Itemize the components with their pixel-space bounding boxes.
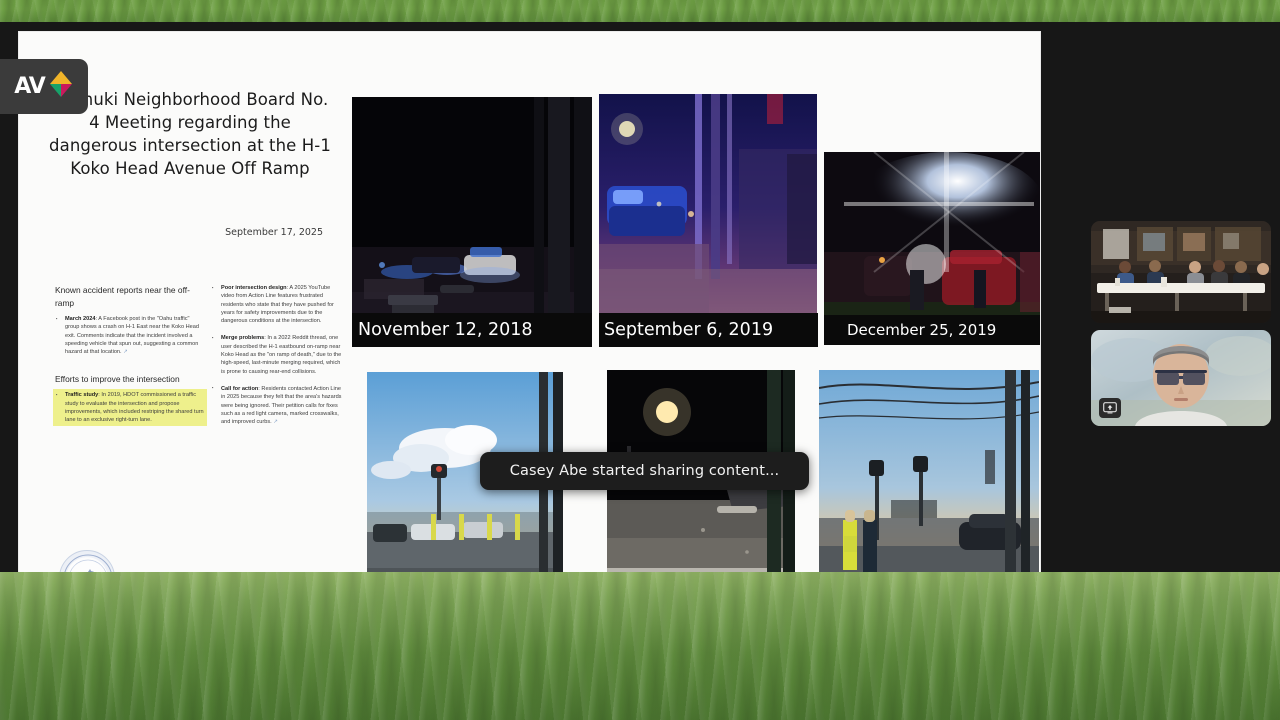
video-canvas: Kaimuki Neighborhood Board No. 4 Meeting… (0, 22, 1280, 574)
av-watermark-badge: AV (0, 59, 88, 114)
external-link-icon[interactable]: ↗ (272, 419, 278, 425)
screen-share-icon[interactable] (1099, 398, 1121, 418)
right-bullet-merge-problems: Merge problems: In a 2022 Reddit thread,… (211, 334, 343, 375)
left-heading-2: Efforts to improve the intersection (55, 373, 205, 386)
av-logo-icon (48, 70, 74, 103)
participant-thumbnail-presenter[interactable] (1091, 330, 1271, 426)
shared-slide: Kaimuki Neighborhood Board No. 4 Meeting… (19, 32, 1040, 596)
left-bullet-march-2024: March 2024: A Facebook post in the "Oahu… (55, 315, 205, 356)
left-bullet-traffic-study: Traffic study: In 2019, HDOT commissione… (55, 391, 205, 424)
slide-date: September 17, 2025 (45, 227, 335, 238)
slide-title: Kaimuki Neighborhood Board No. 4 Meeting… (45, 88, 335, 180)
photo-caption-1: September 6, 2019 (599, 313, 818, 347)
sharing-toast-text: Casey Abe started sharing content... (510, 463, 779, 479)
left-heading-1: Known accident reports near the off-ramp (55, 284, 205, 309)
photo-november-12-2018 (352, 97, 592, 345)
right-bullet-poor-design: Poor intersection design: A 2025 YouTube… (211, 284, 343, 325)
slide-right-column: Poor intersection design: A 2025 YouTube… (211, 284, 343, 435)
participant-thumbnail-board-room[interactable] (1091, 221, 1271, 323)
right-bullet2-lead: Call for action (221, 386, 258, 392)
left-bullet-lead: March 2024 (65, 316, 95, 322)
sharing-toast-notification: Casey Abe started sharing content... (480, 452, 809, 490)
photo-september-8-2025 (819, 370, 1039, 596)
photo-september-6-2019 (599, 94, 817, 345)
slide-left-column: Known accident reports near the off-ramp… (55, 284, 205, 433)
right-bullet-call-for-action: Call for action: Residents contacted Act… (211, 385, 343, 426)
left-bullet2-lead: Traffic study (65, 392, 98, 398)
photo-caption-2: December 25, 2019 (824, 315, 1040, 345)
av-watermark-label: AV (14, 74, 45, 99)
photo-caption-0: November 12, 2018 (352, 313, 592, 347)
right-bullet1-lead: Merge problems (221, 335, 264, 341)
external-link-icon[interactable]: ↗ (122, 349, 128, 355)
broadcast-lower-third-banner: CITY AND COUNTY STATE OF HAWAII Wednesda… (0, 572, 1280, 720)
video-player-stage: Kaimuki Neighborhood Board No. 4 Meeting… (0, 0, 1280, 720)
top-green-band (0, 0, 1280, 22)
right-bullet0-lead: Poor intersection design (221, 285, 287, 291)
